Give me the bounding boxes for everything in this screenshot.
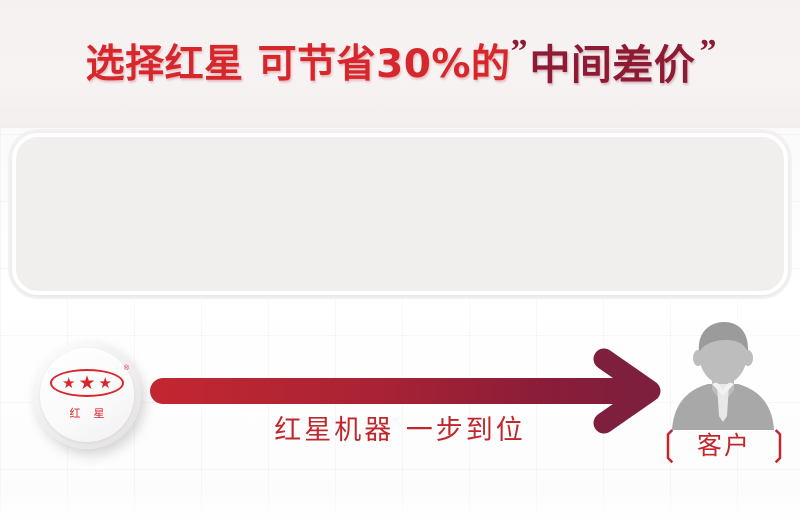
- headline-part1: 选择红星: [86, 33, 244, 89]
- quote-close-mark: ”: [699, 33, 714, 71]
- arrow-shaft: [150, 378, 648, 404]
- poster-canvas: 选择红星 可节省30%的 ” 中间差价 ” 其他厂家 代加工 + 20%费用 代…: [0, 0, 800, 530]
- bracket-right-icon: ❳: [764, 425, 793, 463]
- logo-oval-outline: ★ ★ ★: [50, 369, 124, 397]
- bottom-fade-overlay: [0, 490, 800, 530]
- customer-avatar-icon: [664, 318, 782, 430]
- quote-open-mark: ”: [510, 33, 525, 71]
- hongxing-logo-badge: ★ ★ ★ ® 红星: [33, 341, 141, 449]
- customer-caption: ❲ 客户 ❳: [650, 424, 798, 464]
- headline-part2: 可节省30%的: [258, 33, 511, 89]
- logo-brand-name: 红星: [57, 405, 118, 421]
- star-icon: ★: [62, 376, 75, 391]
- bracket-left-icon: ❲: [655, 425, 684, 463]
- star-icon: ★: [99, 376, 112, 391]
- middleman-flow-panel: [12, 133, 788, 295]
- customer-label: 客户: [697, 431, 751, 460]
- registered-trademark-icon: ®: [124, 365, 129, 372]
- slogan-text: 红星机器 一步到位: [150, 408, 650, 447]
- logo-inner-disc: ★ ★ ★ ® 红星: [40, 348, 134, 442]
- logo-mark: ★ ★ ★ ®: [50, 369, 124, 403]
- headline-emphasis: 中间差价: [529, 31, 695, 91]
- headline: 选择红星 可节省30%的 ” 中间差价 ”: [0, 26, 800, 96]
- star-icon: ★: [78, 374, 95, 393]
